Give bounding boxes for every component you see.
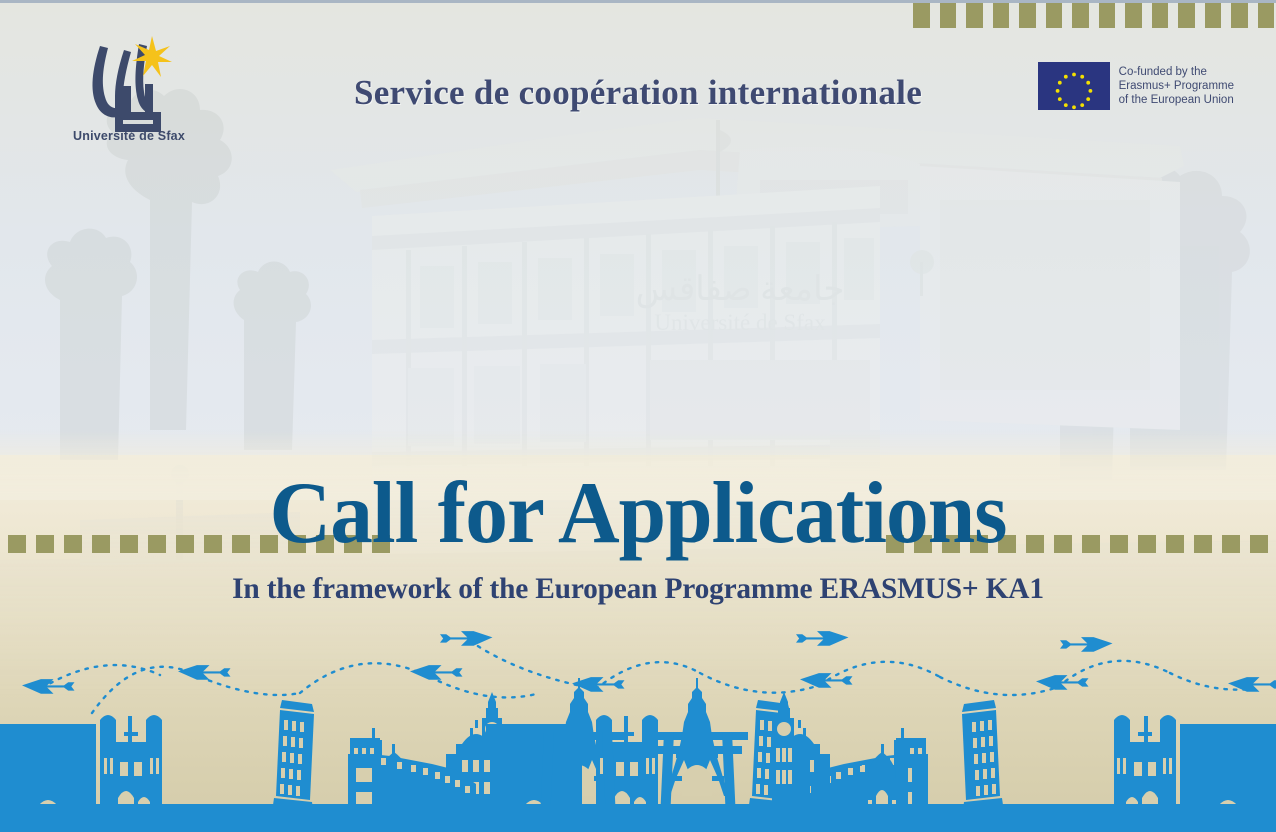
- european-union-flag: [1038, 62, 1110, 110]
- eu-funding-text: Co-funded by the Erasmus+ Programme of t…: [1119, 65, 1234, 107]
- bottom-accent-bar: [0, 804, 1276, 832]
- eu-funding-line-3: of the European Union: [1119, 93, 1234, 107]
- eu-funding-line-1: Co-funded by the: [1119, 65, 1234, 79]
- building-sign-arabic: جامعة صفاقس: [636, 271, 845, 309]
- building-sign-latin: Université de Sfax: [654, 310, 826, 335]
- poster-canvas: جامعة صفاقس Université de Sfax: [0, 0, 1276, 832]
- logo-caption: Université de Sfax: [73, 129, 185, 143]
- eu-funding-block: Co-funded by the Erasmus+ Programme of t…: [1038, 62, 1234, 110]
- main-headline: Call for Applications: [19, 470, 1257, 558]
- eu-funding-line-2: Erasmus+ Programme: [1119, 79, 1234, 93]
- corner-bar-decoration: [913, 3, 1276, 28]
- sub-headline: In the framework of the European Program…: [13, 572, 1263, 606]
